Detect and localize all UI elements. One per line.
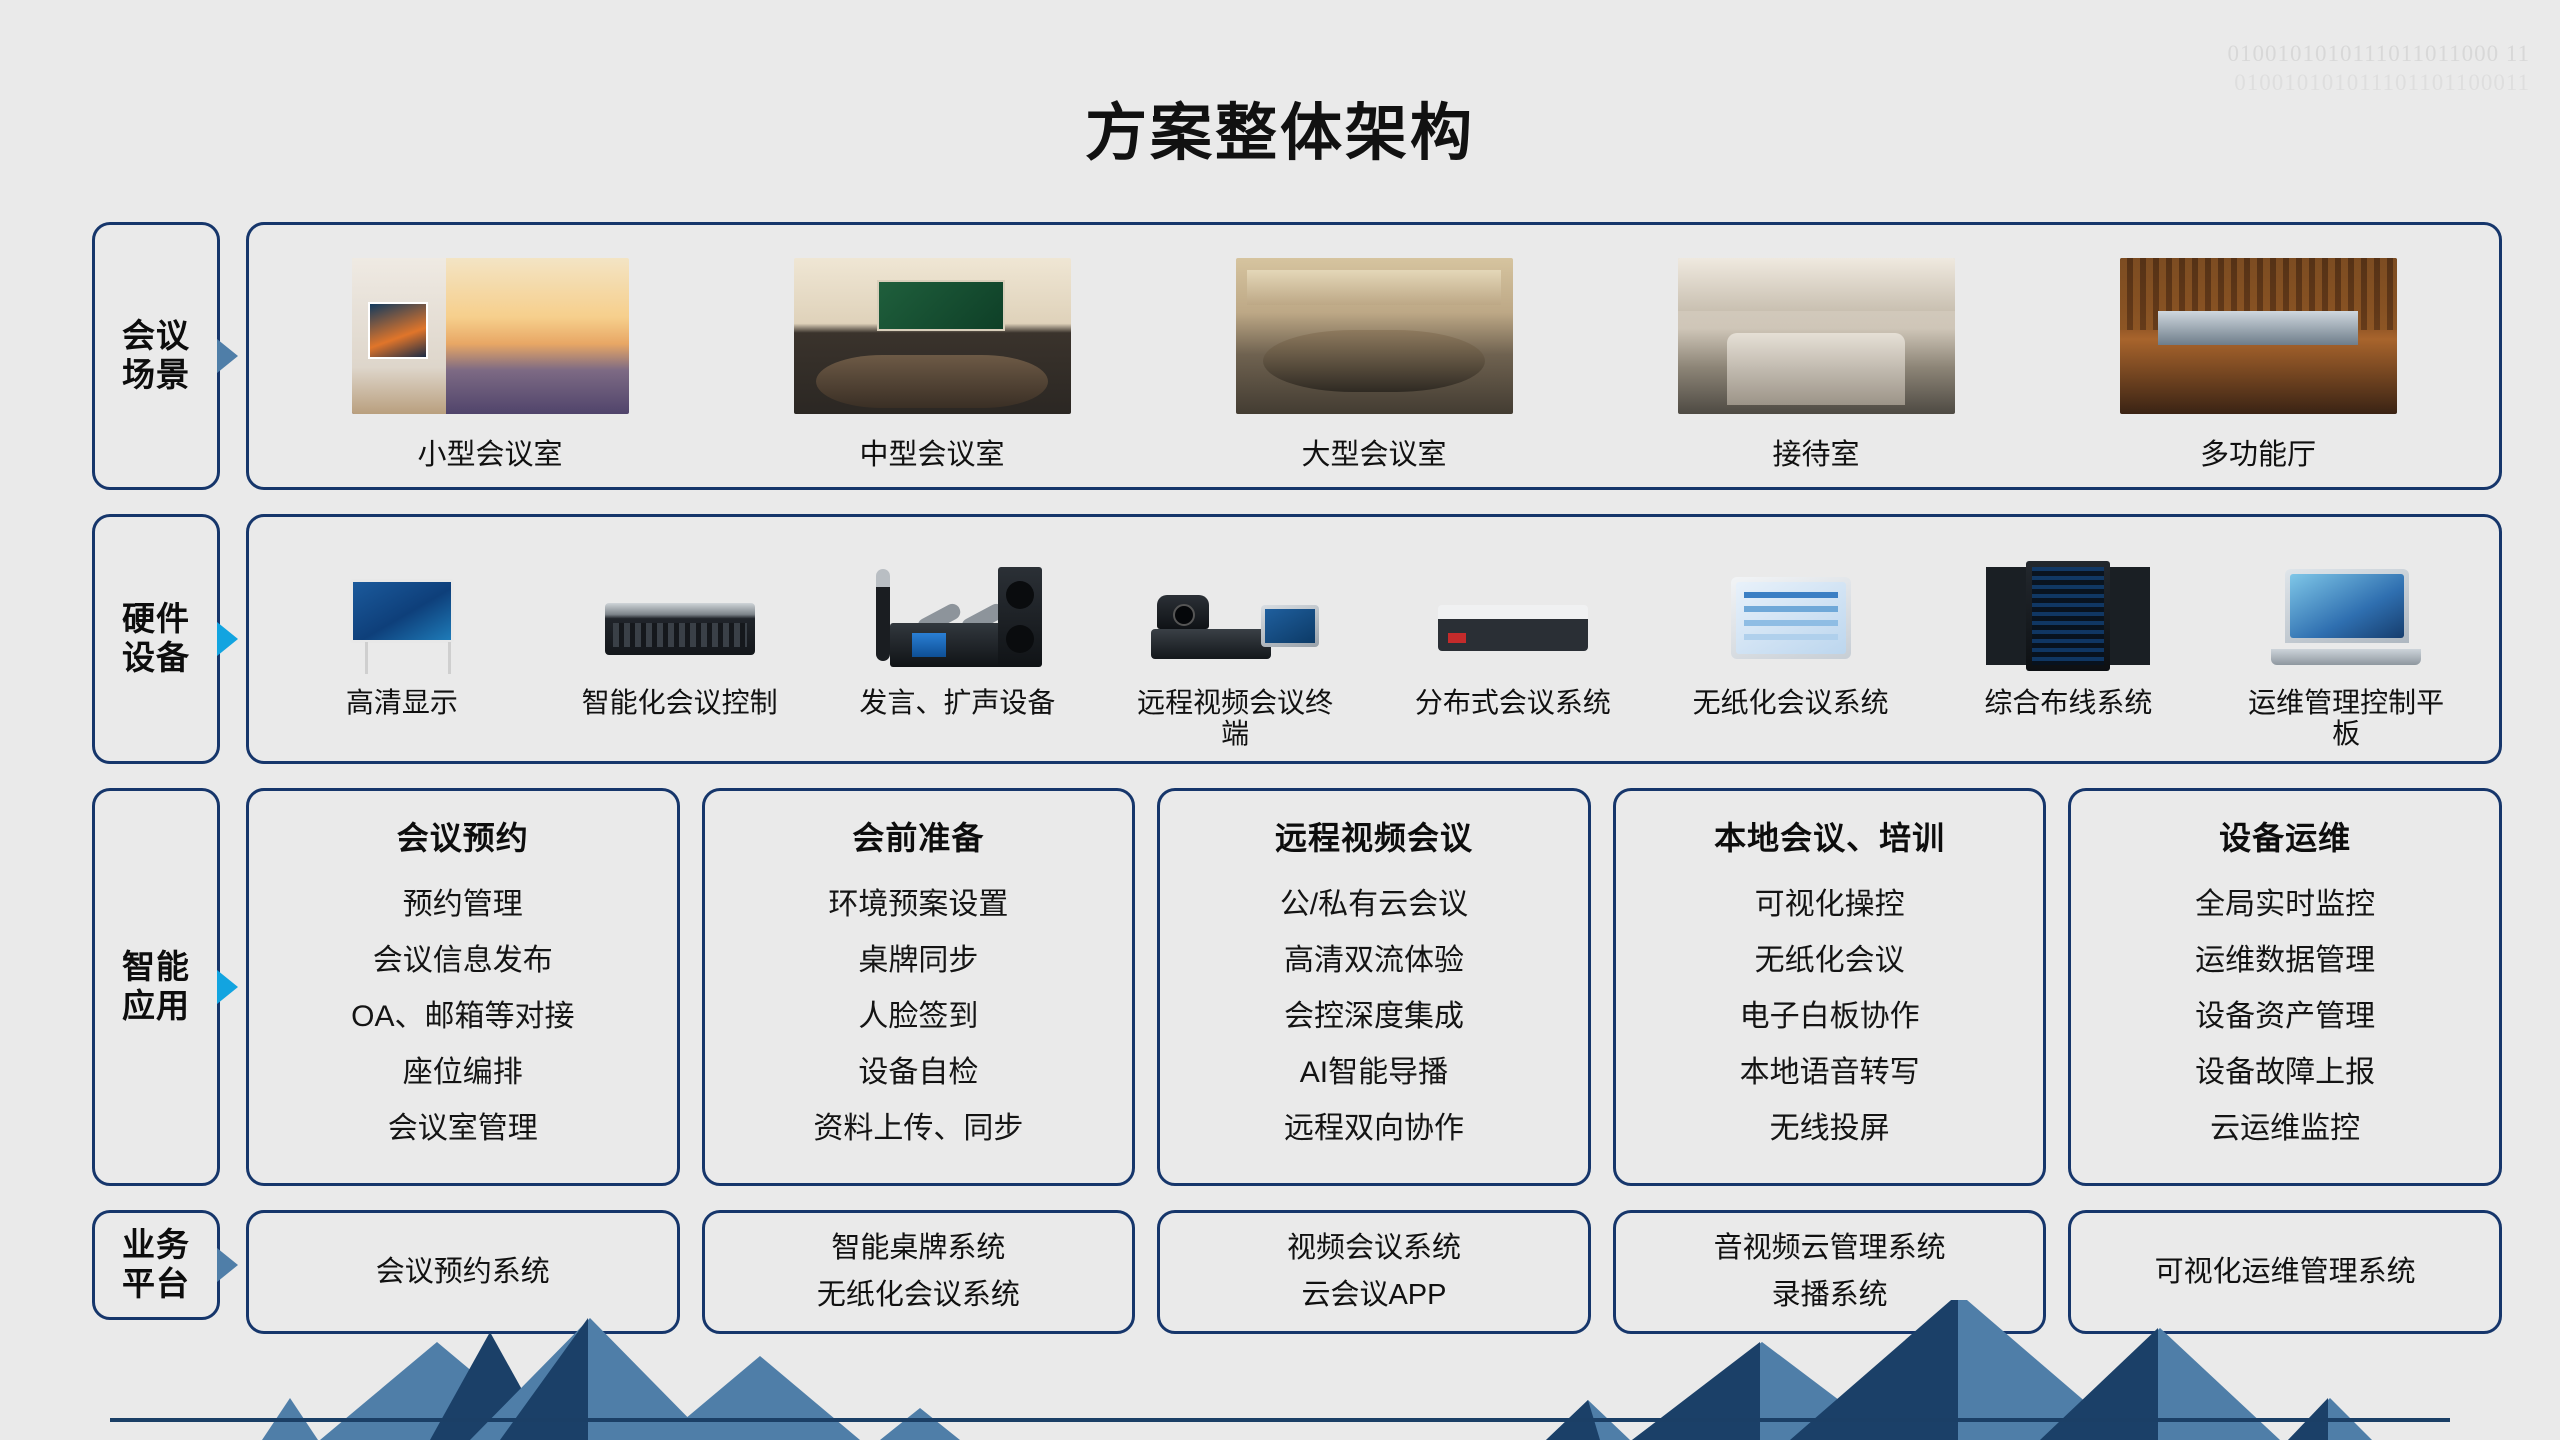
app-item: 预约管理 [403,890,523,920]
baseline-rule [110,1418,2450,1422]
app-item: 会议信息发布 [373,946,553,976]
app-item: 会控深度集成 [1284,1002,1464,1032]
platform-line: 视频会议系统 [1287,1234,1461,1263]
row-hardware: 硬件 设备 高清显示 智能化会议控制 发言、扩声设备 [0,514,2560,764]
architecture-rows: 会议 场景 小型会议室 中型会议室 大型会议室 接待室 [0,222,2560,1358]
scene-label: 多功能厅 [2200,431,2316,473]
category-hardware-line2: 设备 [122,639,190,678]
hardware-panel: 高清显示 智能化会议控制 发言、扩声设备 远程视频会议终端 分布 [246,514,2502,764]
category-meeting-scene-line2: 场景 [122,356,190,395]
category-platform-line1: 业务 [122,1226,190,1265]
hardware-label: 智能化会议控制 [582,687,778,751]
app-item: 资料上传、同步 [813,1114,1023,1144]
hardware-label: 运维管理控制平板 [2246,687,2446,751]
arrow-right-icon [217,339,238,373]
category-application[interactable]: 智能 应用 [92,788,220,1186]
scene-label: 大型会议室 [1301,431,1446,473]
platform-line: 可视化运维管理系统 [2155,1258,2416,1287]
app-item: 云运维监控 [2210,1114,2360,1144]
hardware-label: 综合布线系统 [1984,687,2152,751]
category-hardware-line1: 硬件 [122,600,190,639]
meeting-scene-panel: 小型会议室 中型会议室 大型会议室 接待室 多功能厅 [246,222,2502,490]
app-card-title: 本地会议、培训 [1714,813,1945,859]
category-hardware[interactable]: 硬件 设备 [92,514,220,764]
binary-line-1: 0100101010111011011000 11 [2228,40,2530,69]
scene-item[interactable]: 接待室 [1671,258,1961,473]
hardware-item[interactable]: 高清显示 [302,559,502,751]
small-meeting-room-photo [352,258,629,414]
app-item: 本地语音转写 [1740,1058,1920,1088]
application-card-preparation[interactable]: 会前准备 环境预案设置 桌牌同步 人脸签到 设备自检 资料上传、同步 [702,788,1136,1186]
app-item: 电子白板协作 [1740,1002,1920,1032]
app-item: OA、邮箱等对接 [351,1002,574,1032]
app-item: AI智能导播 [1300,1058,1448,1088]
app-item: 座位编排 [403,1058,523,1088]
category-platform-line2: 平台 [122,1265,190,1304]
multifunction-hall-photo [2120,258,2397,414]
hardware-item[interactable]: 远程视频会议终端 [1135,559,1335,751]
medium-meeting-room-photo [794,258,1071,414]
hardware-item[interactable]: 分布式会议系统 [1413,559,1613,751]
display-screen-icon [312,559,492,677]
mountain-decoration [0,1300,2560,1440]
app-item: 无纸化会议 [1755,946,1905,976]
paperless-tablet-icon [1701,559,1881,677]
row-application: 智能 应用 会议预约 预约管理 会议信息发布 OA、邮箱等对接 座位编排 会议室… [0,788,2560,1186]
application-cards: 会议预约 预约管理 会议信息发布 OA、邮箱等对接 座位编排 会议室管理 会前准… [246,788,2502,1186]
app-item: 环境预案设置 [828,890,1008,920]
application-card-booking[interactable]: 会议预约 预约管理 会议信息发布 OA、邮箱等对接 座位编排 会议室管理 [246,788,680,1186]
app-item: 全局实时监控 [2195,890,2375,920]
page-title: 方案整体架构 [0,82,2560,172]
reception-room-photo [1678,258,1955,414]
scene-item[interactable]: 多功能厅 [2113,258,2403,473]
hardware-label: 无纸化会议系统 [1693,687,1889,751]
app-item: 高清双流体验 [1284,946,1464,976]
distributed-matrix-icon [1423,559,1603,677]
app-item: 人脸签到 [858,1002,978,1032]
hardware-item[interactable]: 发言、扩声设备 [857,559,1057,751]
app-item: 远程双向协作 [1284,1114,1464,1144]
hardware-label: 发言、扩声设备 [859,687,1055,751]
scene-item[interactable]: 大型会议室 [1229,258,1519,473]
app-item: 公/私有云会议 [1280,890,1468,920]
app-card-title: 会议预约 [397,813,529,859]
app-item: 设备故障上报 [2195,1058,2375,1088]
category-meeting-scene-line1: 会议 [122,317,190,356]
category-application-line2: 应用 [122,987,190,1026]
app-card-title: 远程视频会议 [1275,813,1473,859]
hardware-item[interactable]: 智能化会议控制 [580,559,780,751]
application-card-local-meeting[interactable]: 本地会议、培训 可视化操控 无纸化会议 电子白板协作 本地语音转写 无线投屏 [1613,788,2047,1186]
scene-label: 接待室 [1772,431,1859,473]
application-card-device-ops[interactable]: 设备运维 全局实时监控 运维数据管理 设备资产管理 设备故障上报 云运维监控 [2068,788,2502,1186]
platform-line: 智能桌牌系统 [831,1234,1005,1263]
microphone-speaker-icon [867,559,1047,677]
hardware-label: 高清显示 [346,687,458,751]
scene-item[interactable]: 小型会议室 [345,258,635,473]
category-meeting-scene[interactable]: 会议 场景 [92,222,220,490]
category-application-line1: 智能 [122,948,190,987]
platform-line: 会议预约系统 [376,1258,550,1287]
scene-item[interactable]: 中型会议室 [787,258,1077,473]
arrow-right-icon [217,622,238,656]
app-item: 会议室管理 [388,1114,538,1144]
control-tablet-icon [2256,559,2436,677]
app-item: 运维数据管理 [2195,946,2375,976]
hardware-item[interactable]: 综合布线系统 [1968,559,2168,751]
cabling-rack-icon [1978,559,2158,677]
scene-label: 小型会议室 [417,431,562,473]
platform-line: 音视频云管理系统 [1714,1234,1946,1263]
hardware-label: 远程视频会议终端 [1135,687,1335,751]
app-item: 设备自检 [858,1058,978,1088]
arrow-right-icon [217,970,238,1004]
app-item: 无线投屏 [1770,1114,1890,1144]
app-card-title: 设备运维 [2219,813,2351,859]
app-item: 可视化操控 [1755,890,1905,920]
row-meeting-scene: 会议 场景 小型会议室 中型会议室 大型会议室 接待室 [0,222,2560,490]
video-conference-terminal-icon [1145,559,1325,677]
application-card-remote-video[interactable]: 远程视频会议 公/私有云会议 高清双流体验 会控深度集成 AI智能导播 远程双向… [1157,788,1591,1186]
app-item: 设备资产管理 [2195,1002,2375,1032]
scene-label: 中型会议室 [859,431,1004,473]
hardware-item[interactable]: 运维管理控制平板 [2246,559,2446,751]
arrow-right-icon [217,1248,238,1282]
hardware-label: 分布式会议系统 [1415,687,1611,751]
app-item: 桌牌同步 [858,946,978,976]
server-rack-icon [590,559,770,677]
app-card-title: 会前准备 [852,813,984,859]
large-meeting-room-photo [1236,258,1513,414]
hardware-item[interactable]: 无纸化会议系统 [1691,559,1891,751]
